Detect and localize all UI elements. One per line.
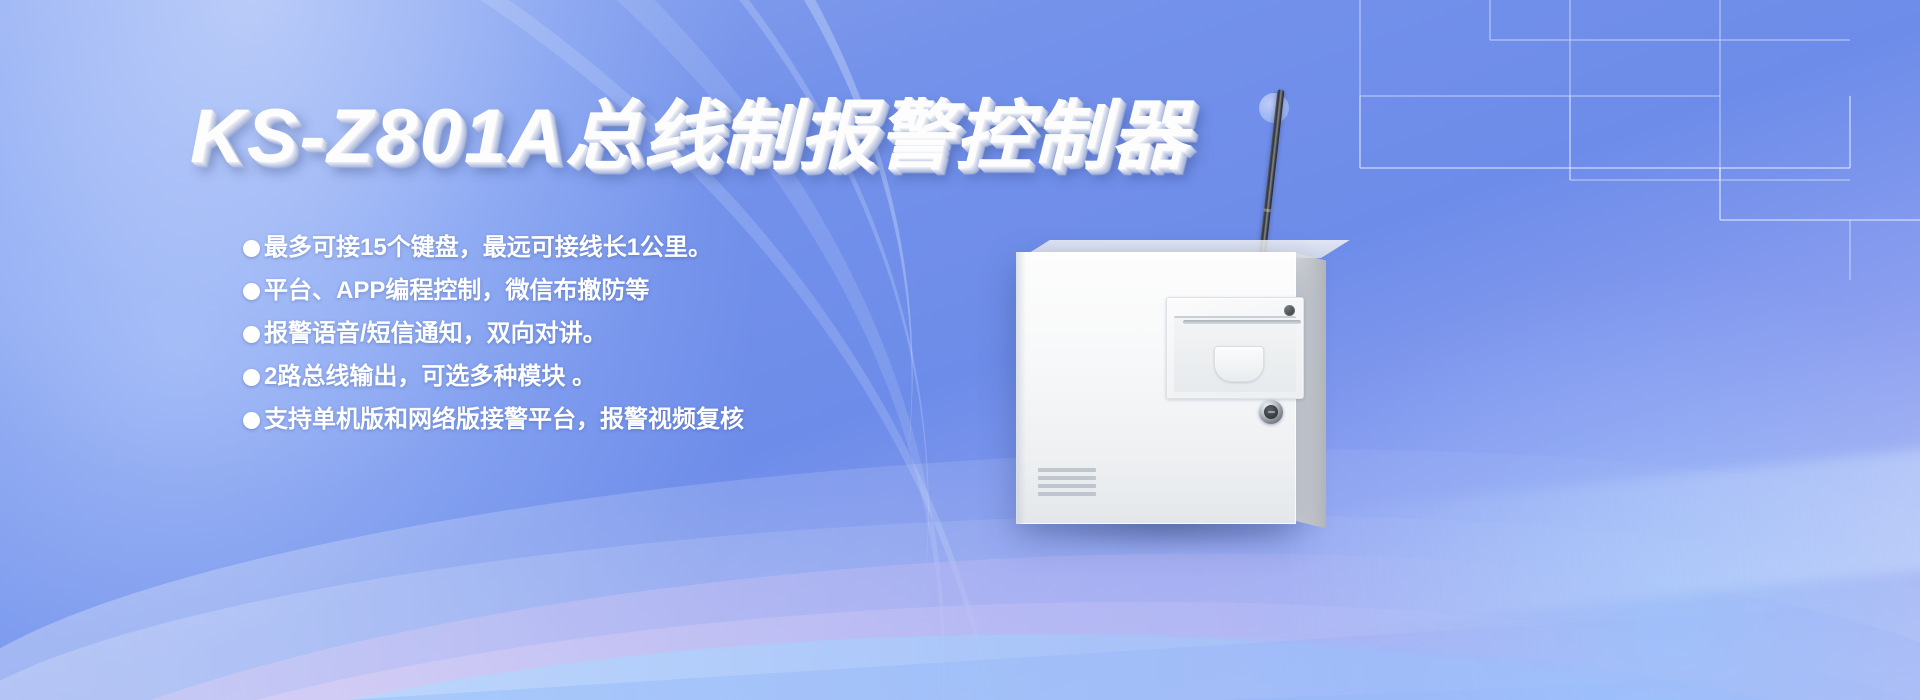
wave-ribbon-3 (0, 609, 1920, 700)
page-title: KS-Z801A总线制报警控制器 (190, 74, 1189, 184)
feature-text: 最多可接15个键盘，最远可接线长1公里。 (264, 236, 712, 260)
bottom-right-streak (1276, 444, 1920, 637)
list-item: 最多可接15个键盘，最远可接线长1公里。 (243, 236, 1063, 260)
bullet-icon (243, 412, 260, 429)
product-banner: KS-Z801A总线制报警控制器 最多可接15个键盘，最远可接线长1公里。 平台… (0, 0, 1920, 700)
bullet-icon (243, 283, 260, 300)
list-item: 2路总线输出，可选多种模块 。 (243, 365, 1063, 389)
list-item: 报警语音/短信通知，双向对讲。 (243, 322, 1063, 346)
cabinet-front-door (1016, 252, 1296, 524)
ventilation-slots (1038, 468, 1096, 504)
wave-ribbon-1 (0, 500, 1920, 700)
feature-text: 2路总线输出，可选多种模块 。 (264, 365, 596, 389)
keypad-module (1166, 297, 1304, 399)
bullet-icon (243, 326, 260, 343)
keypad-handle (1214, 346, 1264, 382)
bullet-icon (243, 240, 260, 257)
list-item: 平台、APP编程控制，微信布撤防等 (243, 279, 1063, 303)
feature-text: 支持单机版和网络版接警平台，报警视频复核 (264, 408, 744, 432)
keypad-inner-panel (1174, 316, 1296, 392)
lock-icon (1259, 400, 1283, 424)
feature-text: 报警语音/短信通知，双向对讲。 (264, 322, 607, 346)
product-image-alarm-control-panel (1016, 238, 1346, 538)
feature-list: 最多可接15个键盘，最远可接线长1公里。 平台、APP编程控制，微信布撤防等 报… (243, 236, 1063, 451)
feature-text: 平台、APP编程控制，微信布撤防等 (264, 279, 649, 303)
lock-keyhole-icon (1268, 411, 1275, 413)
wave-ribbon-4 (0, 620, 1920, 700)
bullet-icon (243, 369, 260, 386)
wave-highlight-2 (0, 476, 1920, 700)
list-item: 支持单机版和网络版接警平台，报警视频复核 (243, 408, 1063, 432)
status-led-icon (1284, 305, 1295, 316)
keypad-slot (1183, 320, 1301, 324)
wave-ribbon-2 (0, 564, 1920, 700)
